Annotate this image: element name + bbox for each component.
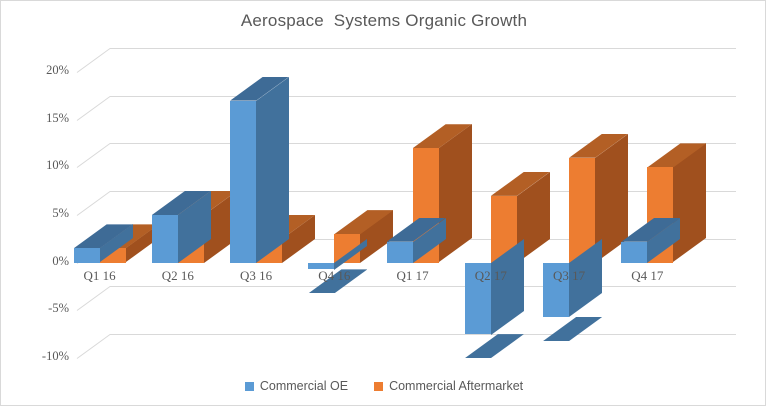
legend-item[interactable]: Commercial OE	[245, 379, 348, 393]
bar-commercial-oe-q4-17	[621, 242, 647, 263]
bar-commercial-oe-q1-16	[74, 248, 100, 262]
plot-area: -10%-5%0%5%10%15%20%Q1 16Q2 16Q3 16Q4 16…	[1, 1, 766, 406]
bar-bottom-face	[465, 334, 524, 358]
legend-label: Commercial Aftermarket	[389, 379, 523, 393]
chart-container: Aerospace Systems Organic Growth -10%-5%…	[0, 0, 766, 406]
bar-commercial-oe-q2-16	[152, 215, 178, 263]
axis-depth-edge	[77, 191, 111, 216]
y-axis-tick-label: -5%	[23, 301, 69, 316]
legend-item[interactable]: Commercial Aftermarket	[374, 379, 523, 393]
gridline	[110, 96, 736, 97]
axis-depth-edge	[77, 286, 111, 311]
gridline	[110, 48, 736, 49]
bar-commercial-oe-q3-16	[230, 101, 256, 263]
bar-side-face	[439, 124, 472, 262]
bar-front-face	[621, 242, 647, 263]
bar-front-face	[230, 101, 256, 263]
gridline	[110, 334, 736, 335]
axis-depth-edge	[77, 96, 111, 121]
y-axis-tick-label: -10%	[23, 349, 69, 364]
bar-bottom-face	[543, 317, 602, 341]
axis-depth-edge	[77, 143, 111, 168]
legend-swatch-icon	[374, 382, 383, 391]
gridline	[110, 286, 736, 287]
y-axis-tick-label: 10%	[23, 158, 69, 173]
legend-swatch-icon	[245, 382, 254, 391]
bar-front-face	[152, 215, 178, 263]
axis-depth-edge	[77, 48, 111, 73]
y-axis-tick-label: 5%	[23, 206, 69, 221]
axis-depth-edge	[77, 334, 111, 359]
y-axis-tick-label: 0%	[23, 254, 69, 269]
bar-front-face	[74, 248, 100, 262]
y-axis-tick-label: 20%	[23, 63, 69, 78]
bar-side-face	[256, 77, 289, 263]
x-axis-tick-label: Q4 17	[601, 268, 693, 284]
chart-legend: Commercial OECommercial Aftermarket	[1, 379, 766, 393]
bar-front-face	[387, 242, 413, 263]
bar-commercial-oe-q1-17	[387, 242, 413, 263]
legend-label: Commercial OE	[260, 379, 348, 393]
y-axis-tick-label: 15%	[23, 111, 69, 126]
